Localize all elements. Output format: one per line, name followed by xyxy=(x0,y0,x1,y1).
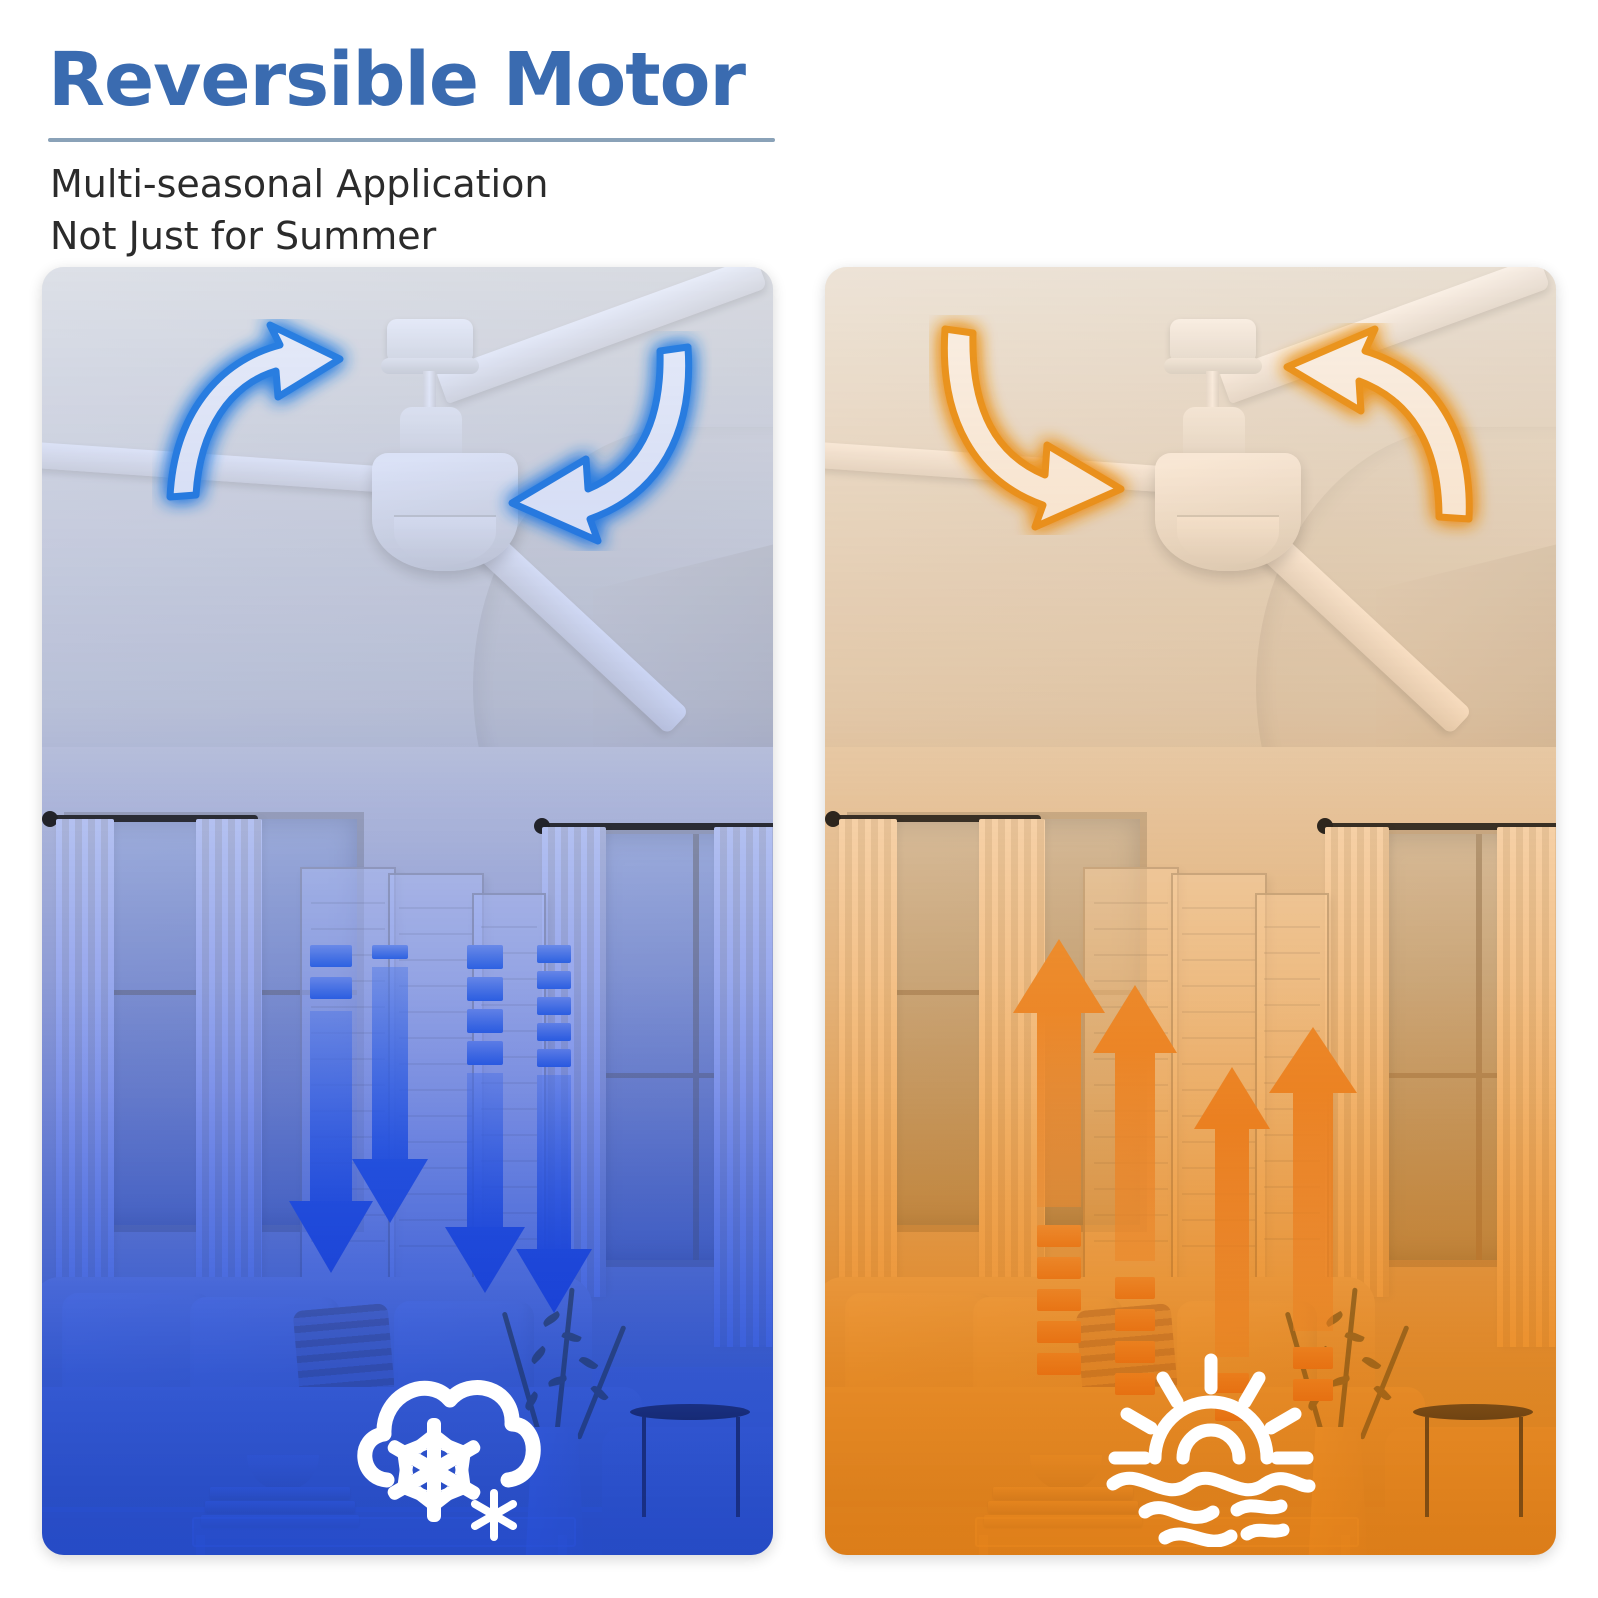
sunrise-waves-icon xyxy=(1101,1352,1321,1552)
caption-winter: Winter Mode Reverse Mode Warm Airflow xyxy=(825,1552,1556,1555)
mode-title-summer: Summer Mode xyxy=(42,1552,773,1555)
caption-summer: Summer Mode Forward Mode Cool Airflow xyxy=(42,1552,773,1555)
cloud-snow-icon xyxy=(342,1352,552,1552)
page-title: Reversible Motor xyxy=(48,38,1048,122)
page-subtitle: Multi-seasonal Application Not Just for … xyxy=(50,158,548,262)
title-divider xyxy=(48,138,775,142)
header: Reversible Motor Multi-seasonal Applicat… xyxy=(48,38,1048,122)
panel-winter-mode[interactable]: Winter Mode Reverse Mode Warm Airflow xyxy=(825,267,1556,1555)
panel-summer-mode[interactable]: Summer Mode Forward Mode Cool Airflow xyxy=(42,267,773,1555)
infographic-root: Reversible Motor Multi-seasonal Applicat… xyxy=(0,0,1598,1598)
mode-title-winter: Winter Mode xyxy=(825,1552,1556,1555)
